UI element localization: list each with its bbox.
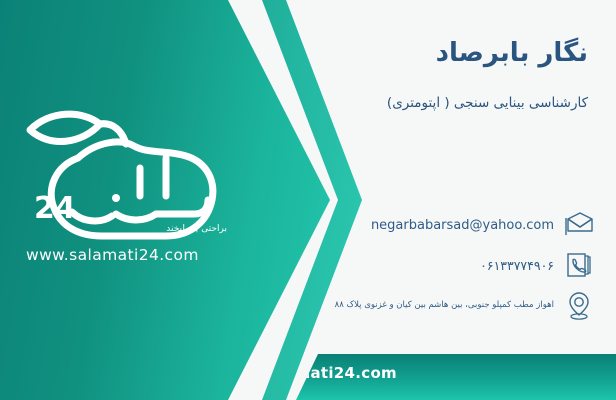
location-pin-icon bbox=[564, 289, 594, 321]
contact-row-email[interactable]: negarbabarsad@yahoo.com bbox=[264, 205, 594, 245]
business-card: 24 براحتی یک لبخند www.salamati24.com نگ… bbox=[0, 0, 616, 400]
address-value[interactable]: اهواز مطب کمپلو جنوبی، بین هاشم بین کیان… bbox=[335, 300, 554, 310]
contact-list: negarbabarsad@yahoo.com ۰۶۱۳۳۷۷۴۹۰۶ bbox=[264, 205, 594, 325]
logo-badge-24: 24 bbox=[34, 191, 76, 226]
person-name: نگار بابرصاد bbox=[436, 38, 588, 68]
contact-row-phone[interactable]: ۰۶۱۳۳۷۷۴۹۰۶ bbox=[264, 245, 594, 285]
person-title: کارشناسی بینایی سنجی ( اپتومتری) bbox=[387, 95, 588, 111]
email-value[interactable]: negarbabarsad@yahoo.com bbox=[371, 218, 554, 233]
logo-website-url: www.salamati24.com bbox=[26, 246, 199, 264]
envelope-icon bbox=[564, 209, 594, 241]
phone-book-icon bbox=[564, 249, 594, 281]
logo-tagline: براحتی یک لبخند bbox=[166, 224, 227, 234]
brand-logo: 24 براحتی یک لبخند www.salamati24.com bbox=[16, 96, 231, 286]
phone-value[interactable]: ۰۶۱۳۳۷۷۴۹۰۶ bbox=[480, 258, 554, 273]
contact-row-address[interactable]: اهواز مطب کمپلو جنوبی، بین هاشم بین کیان… bbox=[264, 285, 594, 325]
